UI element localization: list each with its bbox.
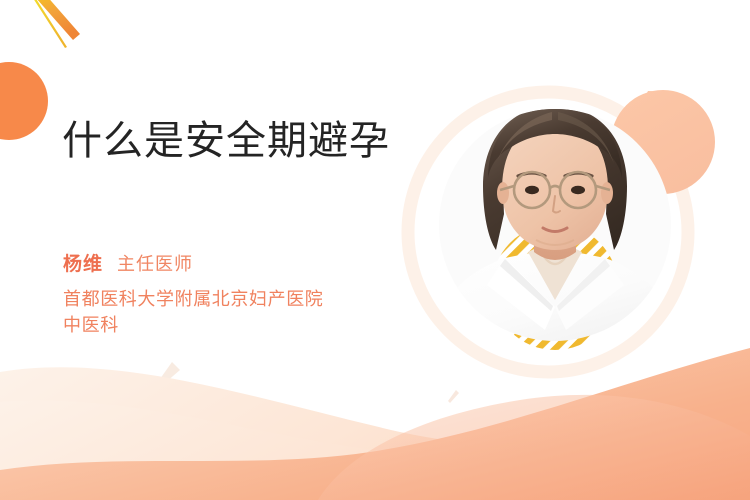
wave-salmon-layer-2 (318, 395, 750, 500)
doctor-job-title: 主任医师 (117, 254, 193, 274)
doctor-hospital-department: 首都医科大学附属北京妇产医院 中医科 (63, 286, 323, 338)
doctor-video-cover-card: 什么是安全期避孕 杨维主任医师 首都医科大学附属北京妇产医院 中医科 (0, 0, 750, 500)
doctor-name-row: 杨维主任医师 (63, 249, 193, 276)
doctor-name: 杨维 (63, 254, 103, 275)
page-title: 什么是安全期避孕 (62, 118, 390, 164)
